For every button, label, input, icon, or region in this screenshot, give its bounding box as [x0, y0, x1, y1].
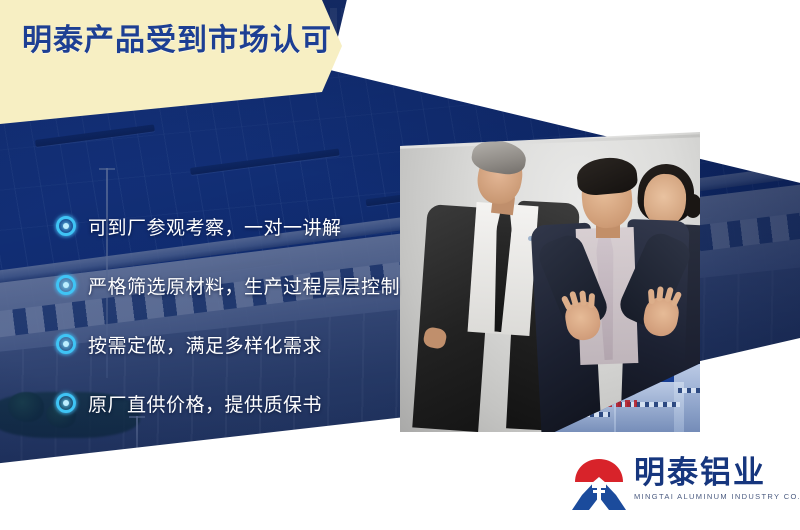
inset-windows [678, 388, 700, 393]
finger [648, 289, 655, 304]
icon-center-dot [63, 223, 69, 229]
icon-center-dot [63, 341, 69, 347]
icon-center-dot [63, 282, 69, 288]
feature-list: 可到厂参观考察，一对一讲解 严格筛选原材料，生产过程层层控制 按需定做，满足多样… [56, 212, 400, 417]
icon-center-dot [63, 400, 69, 406]
inset-building [674, 364, 700, 432]
target-bullseye-icon [56, 334, 76, 354]
list-item: 严格筛选原材料，生产过程层层控制 [56, 271, 400, 299]
list-item: 按需定做，满足多样化需求 [56, 330, 400, 358]
page-title: 明泰产品受到市场认可 [22, 26, 332, 56]
person-woman-hair-bun [684, 194, 700, 218]
feature-label: 按需定做，满足多样化需求 [88, 331, 322, 358]
feature-label: 可到厂参观考察，一对一讲解 [88, 213, 342, 240]
logo-english-name: MINGTAI ALUMINUM INDUSTRY CO., LTD [634, 492, 800, 501]
promo-banner: 明泰产品受到市场认可 可到厂参观考察，一对一讲解 严格筛选原材料，生产过程层层控… [0, 0, 800, 530]
finger [656, 286, 664, 302]
target-bullseye-icon [56, 393, 76, 413]
list-item: 原厂直供价格，提供质保书 [56, 389, 400, 417]
feature-label: 严格筛选原材料，生产过程层层控制 [88, 272, 400, 299]
finger [588, 293, 595, 308]
business-meeting-photo [400, 132, 700, 432]
logo-text-block: 明泰铝业 MINGTAI ALUMINUM INDUSTRY CO., LTD [634, 455, 800, 501]
target-bullseye-icon [56, 216, 76, 236]
target-bullseye-icon [56, 275, 76, 295]
mingtai-sun-mountain-logo-icon [568, 455, 630, 513]
logo-chinese-name: 明泰铝业 [634, 455, 766, 491]
feature-label: 原厂直供价格，提供质保书 [88, 390, 322, 417]
list-item: 可到厂参观考察，一对一讲解 [56, 212, 400, 240]
company-logo[interactable]: 明泰铝业 MINGTAI ALUMINUM INDUSTRY CO., LTD [568, 455, 796, 521]
